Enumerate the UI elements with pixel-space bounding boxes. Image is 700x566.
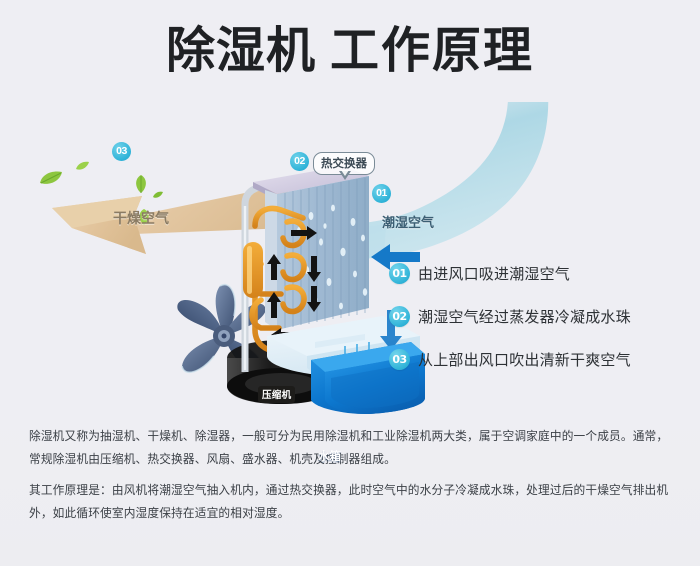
- description-paragraph-1: 除湿机又称为抽湿机、干燥机、除湿器，一般可分为民用除湿机和工业除湿机两大类，属于…: [29, 425, 675, 471]
- step-badge: 03: [389, 349, 410, 370]
- heat-exchanger-callout: 热交换器: [313, 152, 375, 175]
- step-badge: 02: [389, 306, 410, 327]
- humid-air-badge: 01: [372, 184, 391, 203]
- step-text: 潮湿空气经过蒸发器冷凝成水珠: [418, 306, 631, 327]
- list-item: 01 由进风口吸进潮湿空气: [389, 258, 679, 289]
- leaf-icon-2: [75, 158, 90, 176]
- page-title-part2: 工作原理: [330, 22, 534, 79]
- humid-air-badge-number: 01: [372, 184, 391, 203]
- list-item: 03 从上部出风口吹出清新干爽空气: [389, 344, 679, 375]
- dry-air-badge-number: 03: [112, 142, 131, 161]
- infographic-page: 除湿机工作原理: [0, 0, 700, 566]
- step-badge: 01: [389, 263, 410, 284]
- steps-list: 01 由进风口吸进潮湿空气 02 潮湿空气经过蒸发器冷凝成水珠 03 从上部出风…: [389, 258, 679, 387]
- dry-air-label: 干燥空气: [113, 208, 169, 228]
- heat-exchanger-badge: 02: [290, 152, 309, 171]
- humid-air-label: 潮湿空气: [382, 212, 434, 231]
- page-title-part1: 除湿机: [166, 22, 316, 79]
- callout-tail-icon: [339, 171, 351, 180]
- page-title: 除湿机工作原理: [0, 26, 700, 75]
- heat-exchanger-badge-number: 02: [290, 152, 309, 171]
- description-paragraph-2: 其工作原理是：由风机将潮湿空气抽入机内，通过热交换器，此时空气中的水分子冷凝成水…: [29, 479, 675, 525]
- dry-air-badge: 03: [112, 142, 131, 161]
- compressor-tag: 压缩机: [258, 386, 295, 403]
- water-tank-tag: 水箱: [318, 448, 341, 464]
- step-text: 从上部出风口吹出清新干爽空气: [418, 349, 631, 370]
- leaf-icon-3: [133, 174, 150, 199]
- step-text: 由进风口吸进潮湿空气: [418, 263, 570, 284]
- leaf-icon-1: [38, 170, 64, 191]
- leaf-icon-5: [152, 186, 164, 204]
- list-item: 02 潮湿空气经过蒸发器冷凝成水珠: [389, 301, 679, 332]
